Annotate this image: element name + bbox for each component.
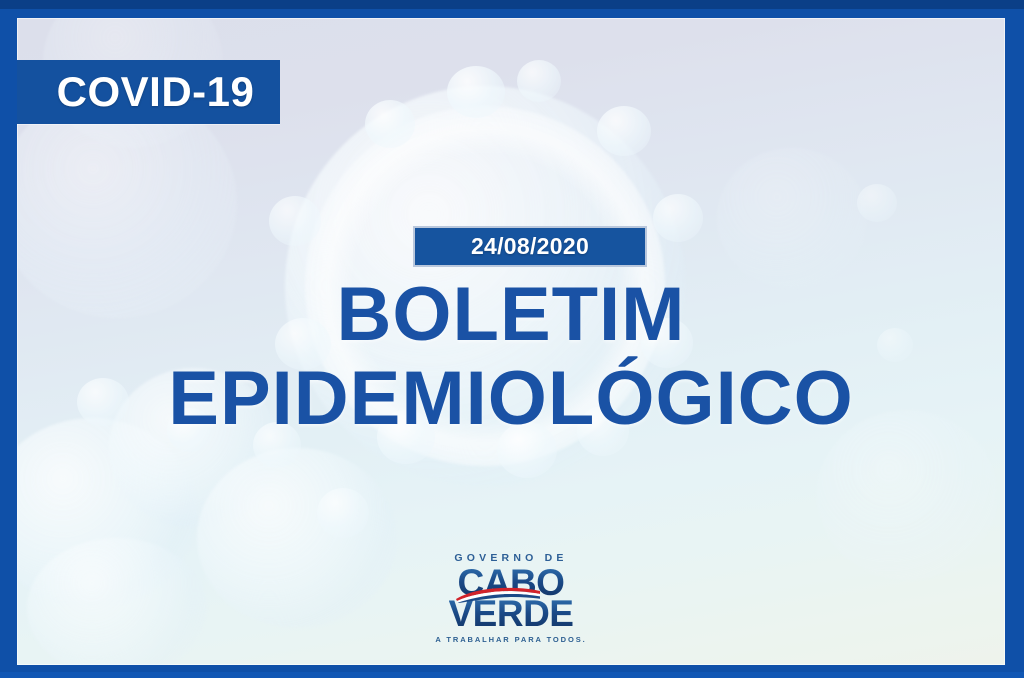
governo-de-cabo-verde-logo: GOVERNO DE CABO VERDE A TRABALHAR PARA T…	[17, 553, 1005, 643]
title-line-1: BOLETIM	[17, 280, 1005, 350]
virus-spike	[653, 194, 703, 242]
virus-particle-upper-right	[717, 148, 867, 288]
logo-wordmark: CABO VERDE	[449, 566, 574, 631]
virus-spike	[597, 106, 651, 156]
covid-19-badge-label: COVID-19	[43, 71, 255, 113]
virus-spike	[857, 184, 897, 222]
virus-spike	[447, 66, 505, 118]
title-line-2: EPIDEMIOLÓGICO	[17, 364, 1005, 434]
virus-spike	[269, 196, 321, 246]
virus-spike	[365, 100, 415, 148]
logo-verde-text: VERDE	[449, 597, 574, 631]
virus-spike	[517, 60, 561, 102]
bulletin-date-badge: 24/08/2020	[413, 226, 647, 267]
frame-top-edge	[0, 0, 1024, 9]
page-title: BOLETIM EPIDEMIOLÓGICO	[17, 280, 1005, 434]
virus-spike	[317, 488, 369, 538]
covid-19-badge: COVID-19	[17, 60, 280, 124]
bulletin-date-label: 24/08/2020	[471, 235, 589, 258]
frame-bottom-edge	[0, 672, 1024, 678]
logo-tagline-text: A TRABALHAR PARA TODOS.	[17, 636, 1005, 644]
poster-frame: COVID-19 24/08/2020 BOLETIM EPIDEMIOLÓGI…	[0, 0, 1024, 678]
poster-card: COVID-19 24/08/2020 BOLETIM EPIDEMIOLÓGI…	[17, 18, 1005, 665]
